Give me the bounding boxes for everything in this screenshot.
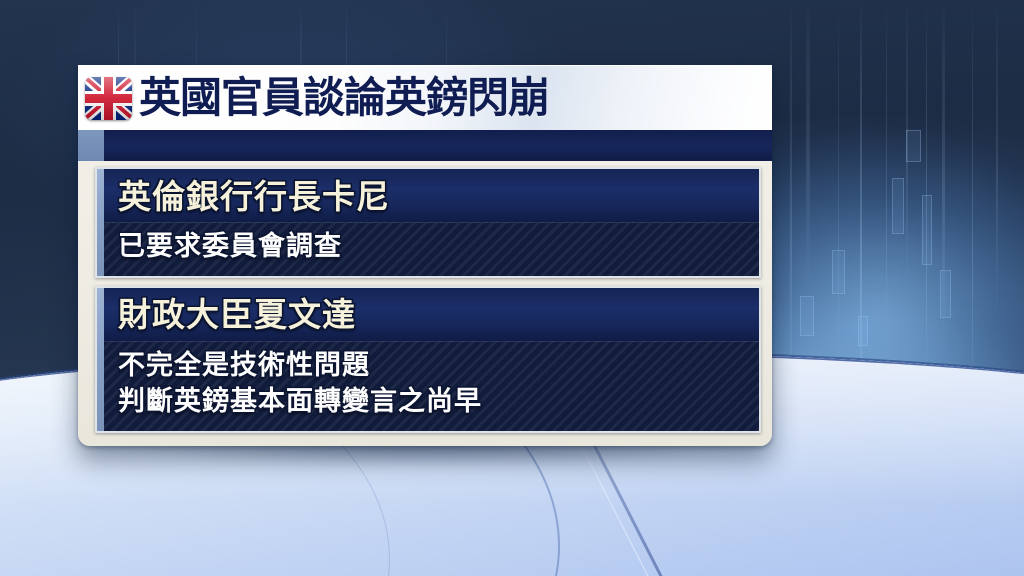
panel-title-bar: 財政大臣夏文達 (97, 288, 759, 341)
uk-union-jack-flag-icon (85, 77, 132, 120)
panel-title-bar: 英倫銀行行長卡尼 (97, 169, 759, 222)
panel-body: 已要求委員會調查 (97, 222, 759, 276)
panel-accent-strip (97, 288, 104, 431)
panel-title: 財政大臣夏文達 (118, 298, 356, 331)
statement-panel: 英倫銀行行長卡尼 已要求委員會調查 (95, 167, 761, 278)
underbar-nib (78, 130, 104, 161)
headline-underbar (78, 130, 772, 161)
news-card: 英國官員談論英鎊閃崩 英倫銀行行長卡尼 已要求委員會調查 財政大臣夏文達 (78, 65, 772, 446)
statement-panel-list: 英倫銀行行長卡尼 已要求委員會調查 財政大臣夏文達 不完全是技術性問題 判斷英鎊… (95, 167, 761, 441)
headline-bar: 英國官員談論英鎊閃崩 (78, 65, 772, 130)
panel-body-line: 判斷英鎊基本面轉變言之尚早 (118, 384, 759, 421)
panel-accent-strip (97, 169, 104, 276)
panel-body-line: 已要求委員會調查 (118, 229, 759, 266)
statement-panel: 財政大臣夏文達 不完全是技術性問題 判斷英鎊基本面轉變言之尚早 (95, 286, 761, 433)
panel-title: 英倫銀行行長卡尼 (118, 180, 390, 213)
page-title: 英國官員談論英鎊閃崩 (139, 77, 549, 119)
panel-body: 不完全是技術性問題 判斷英鎊基本面轉變言之尚早 (97, 341, 759, 431)
broadcast-graphic-stage: 英國官員談論英鎊閃崩 英倫銀行行長卡尼 已要求委員會調查 財政大臣夏文達 (0, 0, 1024, 576)
panel-body-line: 不完全是技術性問題 (118, 348, 759, 385)
